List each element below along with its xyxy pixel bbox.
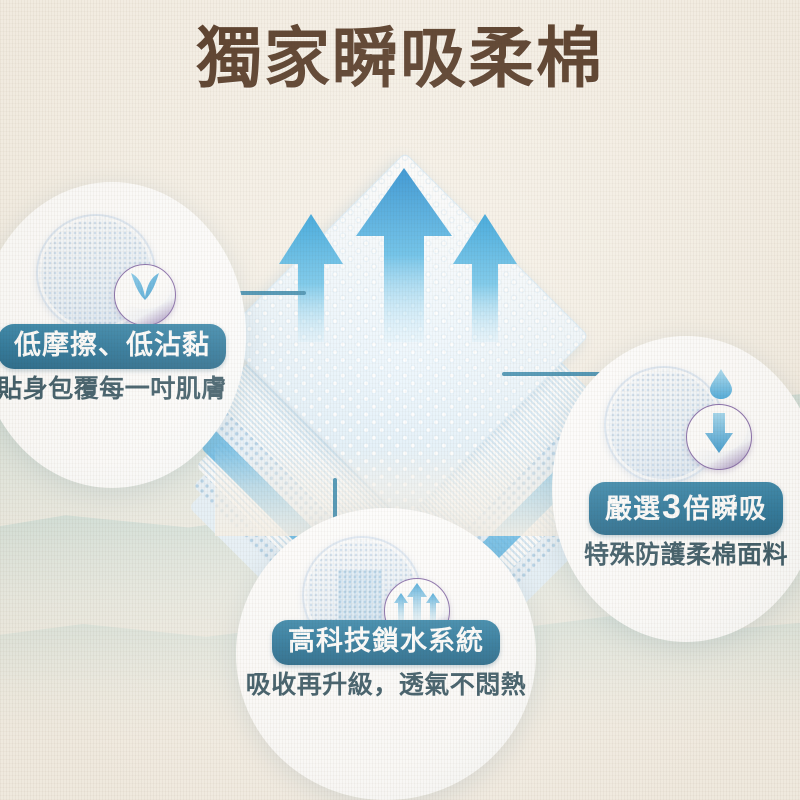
layered-fabric-illustration	[215, 150, 595, 510]
water-drop-icon	[708, 368, 734, 400]
sub-low-friction: 貼身包覆每一吋肌膚	[0, 374, 246, 405]
leaf-icon	[114, 264, 176, 326]
icon-low-friction	[18, 212, 208, 332]
label-low-friction: 低摩擦、低沾黏 貼身包覆每一吋肌膚	[0, 324, 246, 405]
sub-triple-absorb: 特殊防護柔棉面料	[552, 540, 800, 571]
badge-number: 3	[661, 488, 683, 526]
airflow-arrow-right-icon	[449, 212, 521, 344]
sub-lock-water: 吸收再升級，透氣不悶熱	[236, 670, 536, 701]
badge-low-friction[interactable]: 低摩擦、低沾黏	[0, 324, 226, 369]
label-lock-water: 高科技鎖水系統 吸收再升級，透氣不悶熱	[236, 620, 536, 701]
poster-canvas: 低摩擦、低沾黏 貼身包覆每一吋肌膚	[0, 0, 800, 800]
downward-absorption-arrow-icon	[686, 404, 752, 470]
page-title: 獨家瞬吸柔棉	[0, 22, 800, 98]
badge-prefix: 嚴選	[605, 494, 661, 524]
badge-suffix: 倍瞬吸	[683, 494, 767, 524]
airflow-arrow-center-icon	[352, 166, 456, 344]
badge-triple-absorb[interactable]: 嚴選3倍瞬吸	[589, 482, 783, 535]
airflow-arrow-left-icon	[275, 212, 347, 344]
badge-lock-water[interactable]: 高科技鎖水系統	[272, 620, 500, 665]
airflow-arrows-group	[215, 144, 595, 344]
label-triple-absorb: 嚴選3倍瞬吸 特殊防護柔棉面料	[552, 482, 800, 572]
icon-triple-absorb	[596, 362, 786, 488]
feature-bubble-lock-water[interactable]: 高科技鎖水系統 吸收再升級，透氣不悶熱	[236, 508, 536, 800]
